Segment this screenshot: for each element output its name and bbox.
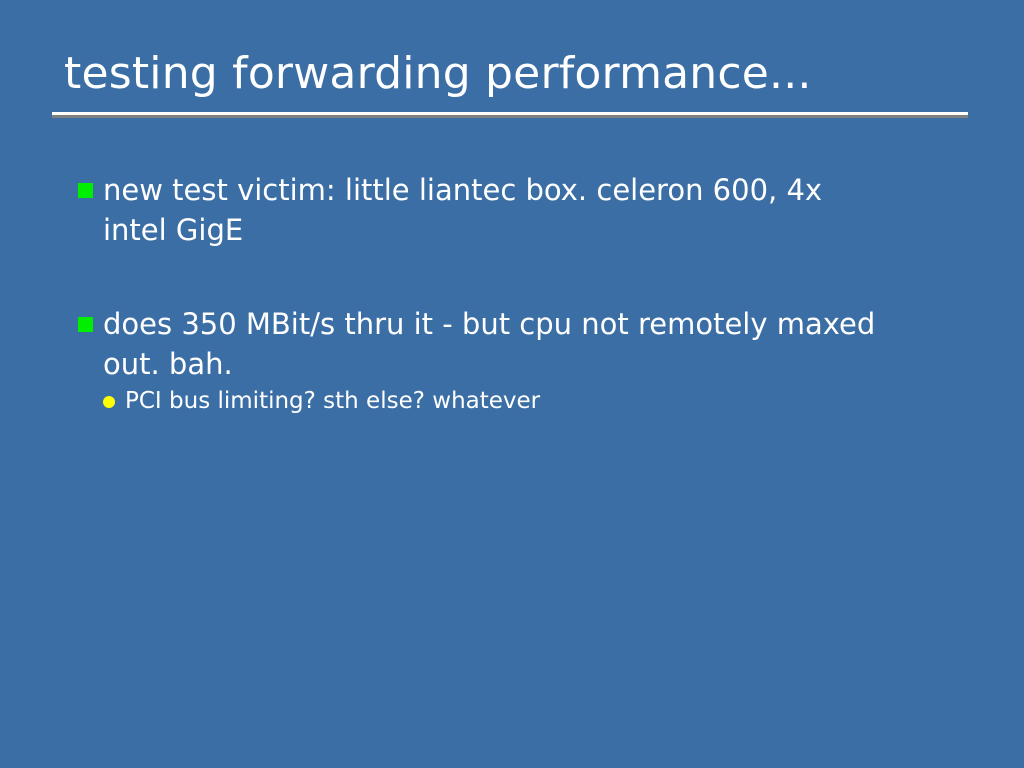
divider-shadow-line — [52, 115, 968, 118]
list-item: PCI bus limiting? sth else? whatever — [78, 386, 958, 416]
list-item: does 350 MBit/s thru it - but cpu not re… — [78, 304, 958, 384]
bullet-spacer — [78, 250, 958, 304]
round-bullet-icon — [103, 396, 115, 408]
square-bullet-icon — [78, 183, 93, 198]
bullet-text-level1: does 350 MBit/s thru it - but cpu not re… — [103, 304, 893, 384]
presentation-slide: testing forwarding performance... new te… — [0, 0, 1024, 768]
page-title: testing forwarding performance... — [52, 46, 972, 102]
list-item: new test victim: little liantec box. cel… — [78, 170, 958, 250]
bullet-text-level2: PCI bus limiting? sth else? whatever — [125, 386, 958, 416]
bullet-text-level1: new test victim: little liantec box. cel… — [103, 170, 893, 250]
square-bullet-icon — [78, 317, 93, 332]
title-divider — [52, 112, 968, 118]
slide-body: new test victim: little liantec box. cel… — [78, 170, 958, 416]
title-block: testing forwarding performance... — [52, 46, 972, 102]
